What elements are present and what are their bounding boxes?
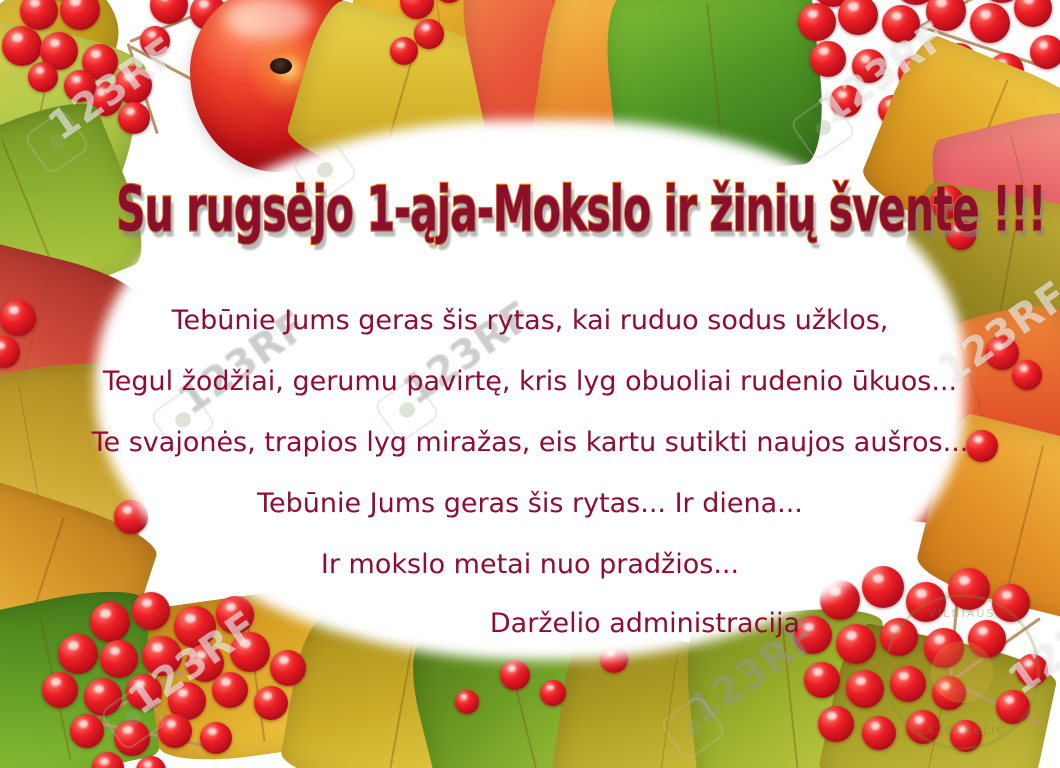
viburnum-berry-icon: [970, 3, 1010, 43]
poem-line: Te svajonės, trapios lyg miražas, eis ka…: [0, 412, 1060, 473]
viburnum-berry-icon: [2, 26, 42, 66]
viburnum-berry-icon: [390, 37, 418, 65]
viburnum-berry-icon: [500, 660, 530, 690]
poem-line: Ir mokslo metai nuo pradžios...: [0, 534, 1060, 595]
viburnum-berry-icon: [1030, 35, 1060, 69]
viburnum-berry-icon: [270, 650, 306, 686]
viburnum-berry-icon: [400, 0, 434, 19]
viburnum-berry-icon: [810, 41, 846, 77]
poem-line: Tebūnie Jums geras šis rytas... Ir diena…: [0, 473, 1060, 534]
greeting-card: 123RF 123RF 123RF 123RF 123RF 123RF 123R…: [0, 0, 1060, 768]
viburnum-berry-icon: [60, 0, 100, 30]
viburnum-berry-icon: [846, 670, 884, 708]
apple-stem-well: [270, 58, 292, 74]
viburnum-berry-icon: [136, 756, 166, 768]
viburnum-berry-icon: [212, 672, 248, 708]
viburnum-berry-icon: [1014, 0, 1052, 27]
title-block: Su rugsėjo 1-ąja-Mokslo ir žinių švente …: [0, 185, 1060, 236]
viburnum-berry-icon: [28, 62, 58, 92]
viburnum-berry-icon: [838, 0, 878, 35]
card-title: Su rugsėjo 1-ąja-Mokslo ir žinių švente …: [116, 179, 1045, 241]
viburnum-berry-icon: [254, 686, 288, 720]
viburnum-berry-icon: [414, 19, 444, 49]
viburnum-berry-icon: [434, 0, 464, 3]
viburnum-berry-icon: [804, 662, 840, 698]
viburnum-berry-cluster: [400, 0, 520, 95]
viburnum-berry-icon: [455, 690, 479, 714]
viburnum-berry-icon: [92, 752, 124, 768]
viburnum-berry-icon: [540, 680, 566, 706]
viburnum-berry-icon: [42, 672, 78, 708]
poem-line: Tegul žodžiai, gerumu pavirtę, kris lyg …: [0, 351, 1060, 412]
viburnum-berry-icon: [818, 706, 854, 742]
viburnum-berry-icon: [798, 3, 836, 41]
signature: Darželio administracija: [0, 595, 1060, 653]
poem-line: Tebūnie Jums geras šis rytas, kai ruduo …: [0, 290, 1060, 351]
viburnum-berry-icon: [200, 722, 232, 754]
viburnum-berry-icon: [70, 714, 104, 748]
poem-block: Tebūnie Jums geras šis rytas, kai ruduo …: [0, 290, 1060, 653]
apple-highlight: [224, 0, 311, 39]
seal-bottom-text: LAZDYNĖLIŲ: [887, 724, 1037, 737]
